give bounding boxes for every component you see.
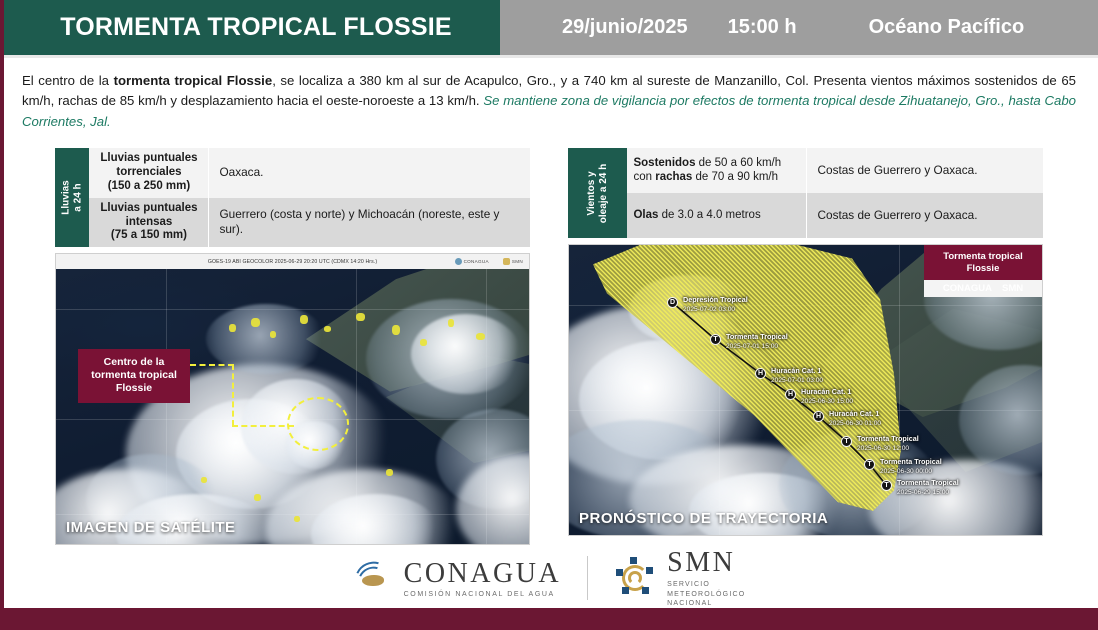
badge-logos: CONAGUA SMN: [924, 280, 1042, 298]
track-timestamp: 2025-07-01 03:00: [771, 377, 823, 384]
bulletin-page: TORMENTA TROPICAL FLOSSIE 29/junio/2025 …: [0, 0, 1098, 630]
track-name: Huracán Cat. 1: [829, 409, 879, 418]
satellite-strip-logos: CONAGUA SMN: [455, 258, 523, 265]
track-name: Huracán Cat. 1: [771, 366, 821, 375]
callout-leader-vertical: [232, 364, 234, 426]
track-timestamp: 2025-06-30 00:00: [880, 468, 932, 475]
satellite-caption: IMAGEN DE SATÉLITE: [66, 519, 236, 536]
smn-sub-l3: NACIONAL: [667, 600, 712, 607]
track-name: Depresión Tropical: [683, 295, 748, 304]
conagua-logo: CONAGUA COMISIÓN NACIONAL DEL AGUA: [353, 558, 562, 598]
track-name: Huracán Cat. 1: [801, 387, 851, 396]
rain-side-line1: Lluvias: [61, 181, 72, 215]
conagua-mini-logo: CONAGUA: [455, 258, 489, 265]
rain-table-side-label: Lluvias a 24 h: [55, 148, 89, 247]
table-row: Olas de 3.0 a 4.0 metros Costas de Guerr…: [627, 193, 1043, 238]
track-timestamp: 2025-06-30 12:00: [857, 445, 909, 452]
bulletin-basin: Océano Pacífico: [869, 16, 1025, 39]
header-meta: 29/junio/2025 15:00 h Océano Pacífico: [500, 0, 1098, 55]
summary-part1: El centro de la: [22, 73, 114, 88]
convection-cell: [324, 326, 331, 332]
smn-sub-l1: SERVICIO: [667, 581, 710, 588]
wind-row0-b1: Sostenidos: [633, 157, 695, 169]
track-label: Tormenta Tropical 2025-06-29 15:00: [897, 478, 959, 497]
wind-table-side-label: Vientos y oleaje a 24 h: [568, 148, 627, 238]
wind-row0-b2: rachas: [655, 171, 692, 183]
summary-storm-name: tormenta tropical Flossie: [114, 73, 273, 88]
smn-logo-text: SMN SERVICIO METEOROLÓGICO NACIONAL: [667, 547, 745, 608]
convection-cell: [251, 318, 260, 327]
rain-row1-l2: intensas: [126, 216, 173, 228]
badge-line1: Tormenta tropical: [943, 251, 1023, 262]
track-name: Tormenta Tropical: [857, 434, 919, 443]
callout-leader-bottom: [232, 425, 294, 427]
track-symbol: D: [670, 299, 675, 306]
callout-leader-top: [190, 364, 234, 366]
smn-sub-l2: METEOROLÓGICO: [667, 591, 745, 598]
track-label: Depresión Tropical 2025-07-02 03:00: [683, 295, 748, 314]
summary-text: El centro de la tormenta tropical Flossi…: [0, 58, 1098, 140]
track-label: Tormenta Tropical 2025-07-01 15:00: [726, 332, 788, 351]
convection-cell: [386, 469, 393, 476]
table-row: Sostenidos de 50 a 60 km/h con rachas de…: [627, 148, 1043, 193]
conagua-subtitle: COMISIÓN NACIONAL DEL AGUA: [404, 591, 562, 598]
rain-row1-l1: Lluvias puntuales: [100, 202, 197, 214]
wind-row0-t2: con: [633, 171, 655, 183]
content-columns: Lluvias a 24 h Lluvias puntuales torrenc…: [0, 140, 1098, 545]
table-row: Lluvias puntuales intensas (75 a 150 mm)…: [89, 198, 530, 247]
track-symbol: T: [713, 336, 717, 343]
smn-subtitle: SERVICIO METEOROLÓGICO NACIONAL: [667, 580, 745, 608]
track-label: Huracán Cat. 1 2025-06-30 01:00: [829, 409, 881, 428]
smn-spiral-icon: [614, 557, 656, 599]
convection-cell: [254, 494, 261, 501]
forecast-caption: PRONÓSTICO DE TRAYECTORIA: [579, 510, 828, 527]
satellite-panel: GOES-19 ABI GEOCOLOR 2025-06-29 20:20 UT…: [55, 253, 530, 545]
track-timestamp: 2025-07-02 03:00: [683, 306, 735, 313]
conagua-mini-logo: CONAGUA: [943, 283, 992, 295]
track-timestamp: 2025-06-30 01:00: [829, 420, 881, 427]
track-label: Huracán Cat. 1 2025-06-30 15:00: [801, 387, 853, 406]
convection-cell: [476, 333, 485, 340]
convection-cell: [356, 313, 365, 321]
left-edge-accent: [0, 0, 4, 630]
convection-cell: [270, 331, 276, 338]
satellite-source-strip: GOES-19 ABI GEOCOLOR 2025-06-29 20:20 UT…: [56, 254, 529, 269]
wind-side-line2: oleaje a 24 h: [598, 164, 609, 223]
track-symbol: H: [788, 391, 793, 398]
smn-spiral-icon: [503, 258, 510, 265]
track-label: Tormenta Tropical 2025-06-30 00:00: [880, 457, 942, 476]
conagua-mini-label: CONAGUA: [943, 283, 992, 294]
storm-badge: Tormenta tropical Flossie CONAGUA SMN: [924, 245, 1042, 297]
rain-side-line2: a 24 h: [72, 184, 83, 212]
convection-cell: [420, 339, 427, 346]
convection-cell: [300, 315, 308, 324]
forecast-track-panel: D Depresión Tropical 2025-07-02 03:00 T …: [568, 244, 1043, 536]
wind-row1-t1: de 3.0 a 4.0 metros: [658, 209, 760, 221]
convection-cell: [229, 324, 236, 332]
smn-mini-logo: SMN: [503, 258, 523, 265]
rain-table-rows: Lluvias puntuales torrenciales (150 a 25…: [89, 148, 530, 247]
wind-side-line1: Vientos y: [586, 171, 597, 215]
rain-column: Lluvias a 24 h Lluvias puntuales torrenc…: [55, 148, 530, 545]
wind-row1-label: Olas de 3.0 a 4.0 metros: [627, 193, 807, 238]
conagua-water-icon: [455, 258, 462, 265]
bulletin-date: 29/junio/2025: [562, 16, 688, 39]
track-name: Tormenta Tropical: [880, 457, 942, 466]
wind-row0-t3: de 70 a 90 km/h: [692, 171, 778, 183]
convection-cell: [392, 325, 400, 335]
track-name: Tormenta Tropical: [897, 478, 959, 487]
wind-row1-b1: Olas: [633, 209, 658, 221]
rain-row0-value: Oaxaca.: [209, 148, 530, 197]
convection-cell: [294, 516, 300, 522]
rain-row0-label: Lluvias puntuales torrenciales (150 a 25…: [89, 148, 209, 197]
track-timestamp: 2025-06-30 15:00: [801, 398, 853, 405]
table-row: Lluvias puntuales torrenciales (150 a 25…: [89, 148, 530, 197]
wind-row0-t1: de 50 a 60 km/h: [695, 157, 781, 169]
rain-row1-value: Guerrero (costa y norte) y Michoacán (no…: [209, 198, 530, 247]
convection-cell: [448, 319, 454, 327]
conagua-name: CONAGUA: [404, 558, 562, 590]
track-symbol: T: [844, 438, 848, 445]
satellite-imagery: Centro de la tormenta tropical Flossie I…: [56, 269, 529, 544]
conagua-logo-text: CONAGUA COMISIÓN NACIONAL DEL AGUA: [404, 558, 562, 598]
page-title: TORMENTA TROPICAL FLOSSIE: [0, 0, 500, 55]
track-symbol: H: [816, 413, 821, 420]
rain-row0-l3: (150 a 250 mm): [108, 180, 190, 192]
track-timestamp: 2025-06-29 15:00: [897, 489, 949, 496]
wind-row0-value: Costas de Guerrero y Oaxaca.: [807, 148, 1043, 193]
callout-line1: Centro de la: [104, 356, 165, 368]
rain-row0-l2: torrenciales: [116, 166, 181, 178]
wind-column: Vientos y oleaje a 24 h Sostenidos de 50…: [568, 148, 1043, 545]
bulletin-time: 15:00 h: [728, 16, 797, 39]
conagua-eagle-water-icon: [353, 558, 393, 598]
smn-logo: SMN SERVICIO METEOROLÓGICO NACIONAL: [614, 547, 745, 608]
convection-cell: [201, 477, 207, 483]
track-symbol: T: [884, 482, 888, 489]
badge-line2: Flossie: [967, 263, 1000, 274]
track-timestamp: 2025-07-01 15:00: [726, 343, 778, 350]
footer-logos: CONAGUA COMISIÓN NACIONAL DEL AGUA SMN S…: [0, 548, 1098, 608]
smn-mini-logo: SMN: [1002, 283, 1023, 295]
rain-table: Lluvias a 24 h Lluvias puntuales torrenc…: [55, 148, 530, 247]
smn-name: SMN: [667, 547, 745, 579]
callout-line2: tormenta tropical: [91, 369, 177, 381]
rain-row0-l1: Lluvias puntuales: [100, 152, 197, 164]
smn-mini-label: SMN: [1002, 283, 1023, 294]
track-symbol: T: [867, 461, 871, 468]
track-label: Tormenta Tropical 2025-06-30 12:00: [857, 434, 919, 453]
smn-mini-label: SMN: [512, 259, 523, 264]
track-name: Tormenta Tropical: [726, 332, 788, 341]
storm-eye-marker: [287, 397, 349, 451]
bottom-bar: [0, 608, 1098, 630]
track-symbol: H: [758, 370, 763, 377]
wind-row0-label: Sostenidos de 50 a 60 km/h con rachas de…: [627, 148, 807, 193]
rain-row1-label: Lluvias puntuales intensas (75 a 150 mm): [89, 198, 209, 247]
storm-center-callout: Centro de la tormenta tropical Flossie: [78, 349, 190, 402]
rain-row1-l3: (75 a 150 mm): [111, 229, 187, 241]
header-bar: TORMENTA TROPICAL FLOSSIE 29/junio/2025 …: [0, 0, 1098, 55]
footer-divider: [587, 556, 588, 600]
wind-table-rows: Sostenidos de 50 a 60 km/h con rachas de…: [627, 148, 1043, 238]
track-label: Huracán Cat. 1 2025-07-01 03:00: [771, 366, 823, 385]
satellite-source-text: GOES-19 ABI GEOCOLOR 2025-06-29 20:20 UT…: [208, 259, 377, 265]
wind-table: Vientos y oleaje a 24 h Sostenidos de 50…: [568, 148, 1043, 238]
callout-line3: Flossie: [116, 382, 152, 394]
wind-row1-value: Costas de Guerrero y Oaxaca.: [807, 193, 1043, 238]
conagua-mini-label: CONAGUA: [464, 259, 489, 264]
